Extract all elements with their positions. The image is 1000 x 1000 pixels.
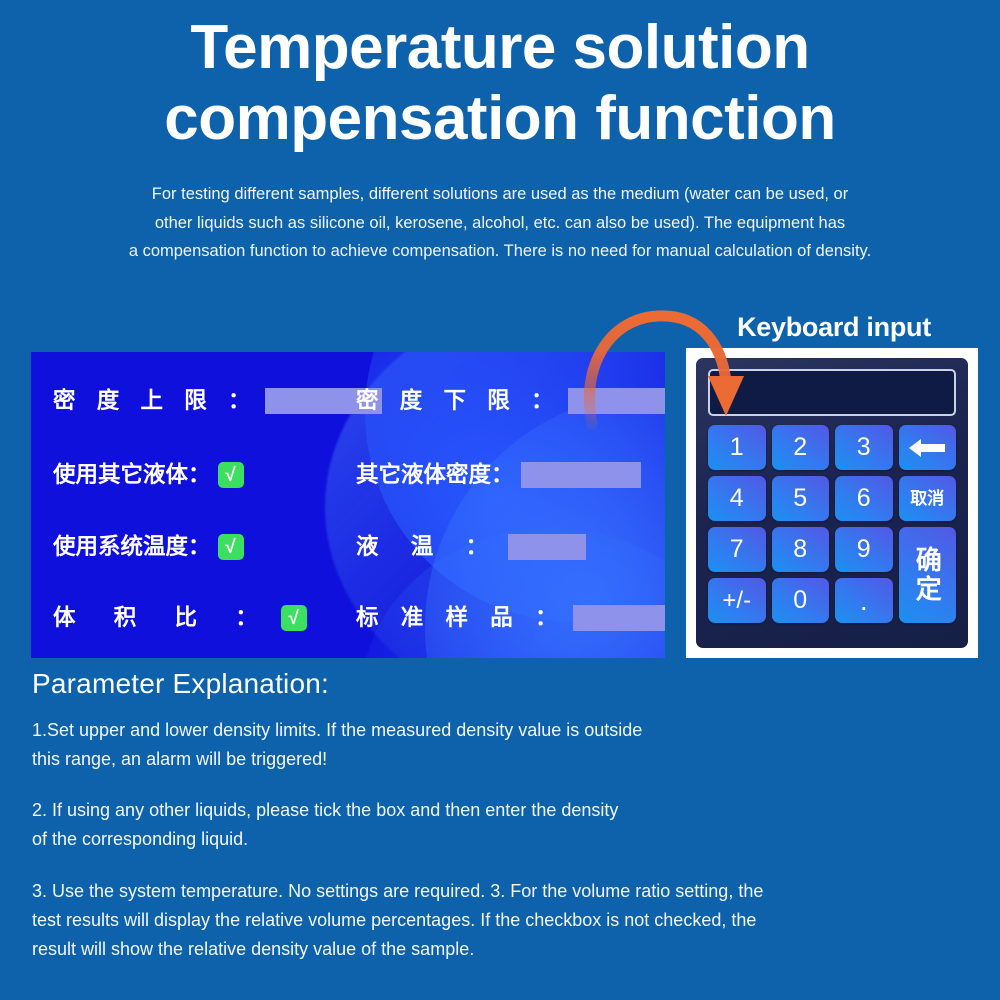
key-7[interactable]: 7 [708, 527, 766, 572]
keypad-display-field[interactable] [708, 369, 956, 416]
field-liquid-temperature: 液 温 ： [356, 534, 586, 560]
keypad-key-grid: 1 2 3 4 5 6 取消 7 8 9 确定 +/- 0 . [708, 425, 956, 623]
explanation-p3-line-2: test results will display the relative v… [32, 906, 952, 935]
page-title: Temperature solution compensation functi… [0, 12, 1000, 155]
input-other-liquid-density[interactable] [521, 462, 641, 488]
key-2[interactable]: 2 [772, 425, 830, 470]
explanation-p2-line-1: 2. If using any other liquids, please ti… [32, 796, 952, 825]
field-standard-sample: 标 准 样 品 ： [356, 605, 665, 631]
explanation-p3-line-3: result will show the relative density va… [32, 935, 952, 964]
explanation-p3-line-1: 3. Use the system temperature. No settin… [32, 877, 952, 906]
field-label-density-lower-limit: 密 度 下 限 ： [356, 390, 561, 413]
field-other-liquid-density: 其它液体密度： [356, 462, 641, 488]
input-liquid-temperature[interactable] [508, 534, 586, 560]
key-4[interactable]: 4 [708, 476, 766, 521]
field-label-liquid-temperature: 液 温 ： [356, 536, 501, 559]
key-3[interactable]: 3 [835, 425, 893, 470]
page-title-line-2: compensation function [0, 83, 1000, 154]
field-label-other-liquid-density: 其它液体密度： [356, 464, 514, 487]
key-8[interactable]: 8 [772, 527, 830, 572]
device-screen-panel: 密 度 上 限 ： 使用其它液体： √ 使用系统温度： √ 体 积 比 ： √ … [31, 352, 665, 658]
key-plusminus[interactable]: +/- [708, 578, 766, 623]
backspace-arrow-icon [906, 437, 948, 459]
field-density-lower-limit: 密 度 下 限 ： [356, 388, 665, 414]
field-use-other-liquid: 使用其它液体： √ [53, 462, 244, 488]
page-subtitle-line-3: a compensation function to achieve compe… [10, 237, 990, 266]
field-label-standard-sample: 标 准 样 品 ： [356, 607, 566, 630]
input-density-lower-limit[interactable] [568, 388, 665, 414]
explanation-paragraph-3: 3. Use the system temperature. No settin… [32, 877, 952, 964]
field-label-volume-ratio: 体 积 比 ： [53, 607, 274, 630]
checkbox-volume-ratio[interactable]: √ [281, 605, 307, 631]
field-volume-ratio: 体 积 比 ： √ [53, 605, 307, 631]
field-label-density-upper-limit: 密 度 上 限 ： [53, 390, 258, 413]
checkbox-use-other-liquid[interactable]: √ [218, 462, 244, 488]
key-backspace[interactable] [899, 425, 957, 470]
page-subtitle-line-2: other liquids such as silicone oil, kero… [10, 209, 990, 238]
field-label-use-other-liquid: 使用其它液体： [53, 464, 211, 487]
explanation-p1-line-1: 1.Set upper and lower density limits. If… [32, 716, 952, 745]
key-0[interactable]: 0 [772, 578, 830, 623]
field-use-system-temperature: 使用系统温度： √ [53, 534, 244, 560]
key-decimal[interactable]: . [835, 578, 893, 623]
key-9[interactable]: 9 [835, 527, 893, 572]
explanation-p2-line-2: of the corresponding liquid. [32, 825, 952, 854]
input-standard-sample[interactable] [573, 605, 665, 631]
field-density-upper-limit: 密 度 上 限 ： [53, 388, 382, 414]
keyboard-input-heading: Keyboard input [688, 312, 980, 343]
page-subtitle: For testing different samples, different… [10, 180, 990, 266]
key-5[interactable]: 5 [772, 476, 830, 521]
explanation-paragraph-1: 1.Set upper and lower density limits. If… [32, 716, 952, 774]
device-fields-layer: 密 度 上 限 ： 使用其它液体： √ 使用系统温度： √ 体 积 比 ： √ … [31, 352, 665, 658]
checkbox-use-system-temperature[interactable]: √ [218, 534, 244, 560]
key-confirm[interactable]: 确定 [899, 527, 957, 623]
key-6[interactable]: 6 [835, 476, 893, 521]
page-title-line-1: Temperature solution [0, 12, 1000, 83]
key-1[interactable]: 1 [708, 425, 766, 470]
parameter-explanation-title: Parameter Explanation: [32, 670, 329, 698]
key-cancel[interactable]: 取消 [899, 476, 957, 521]
parameter-explanation-body: 1.Set upper and lower density limits. If… [32, 716, 952, 964]
keypad-body: 1 2 3 4 5 6 取消 7 8 9 确定 +/- 0 . [696, 358, 968, 648]
explanation-p1-line-2: this range, an alarm will be triggered! [32, 745, 952, 774]
keypad-frame: 1 2 3 4 5 6 取消 7 8 9 确定 +/- 0 . [686, 348, 978, 658]
explanation-paragraph-2: 2. If using any other liquids, please ti… [32, 796, 952, 854]
page-subtitle-line-1: For testing different samples, different… [10, 180, 990, 209]
field-label-use-system-temperature: 使用系统温度： [53, 536, 211, 559]
